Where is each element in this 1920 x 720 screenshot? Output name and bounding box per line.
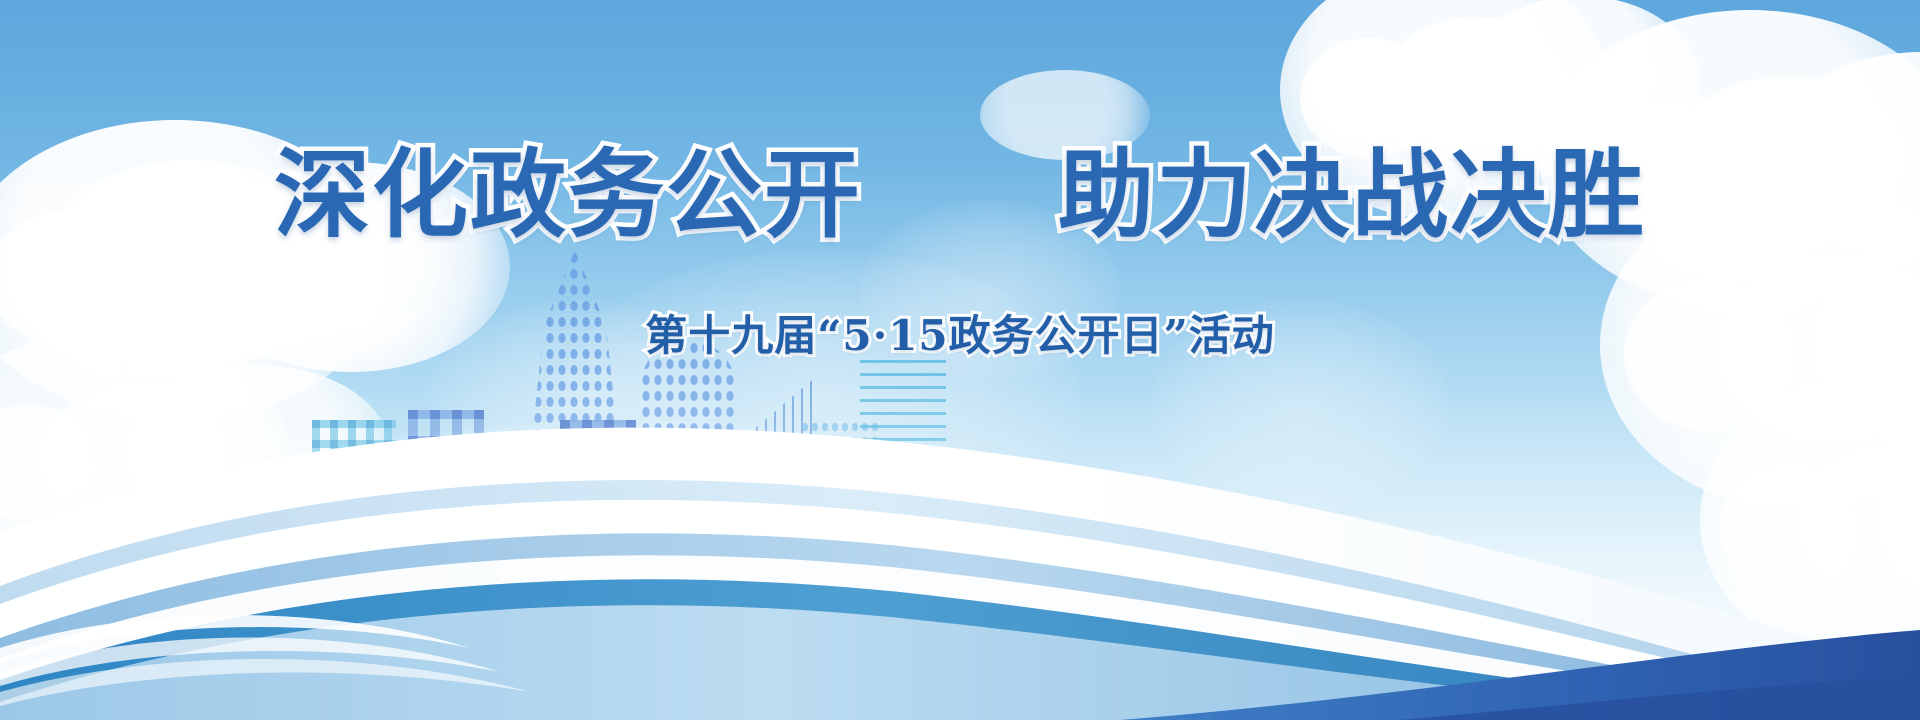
wave-svg: [0, 380, 1920, 720]
cloud-mid-small-icon: [980, 70, 1150, 160]
wave-layer: [0, 380, 1920, 720]
banner-root: 深化政务公开 助力决战决胜 第十九届“5·15政务公开日”活动: [0, 0, 1920, 720]
